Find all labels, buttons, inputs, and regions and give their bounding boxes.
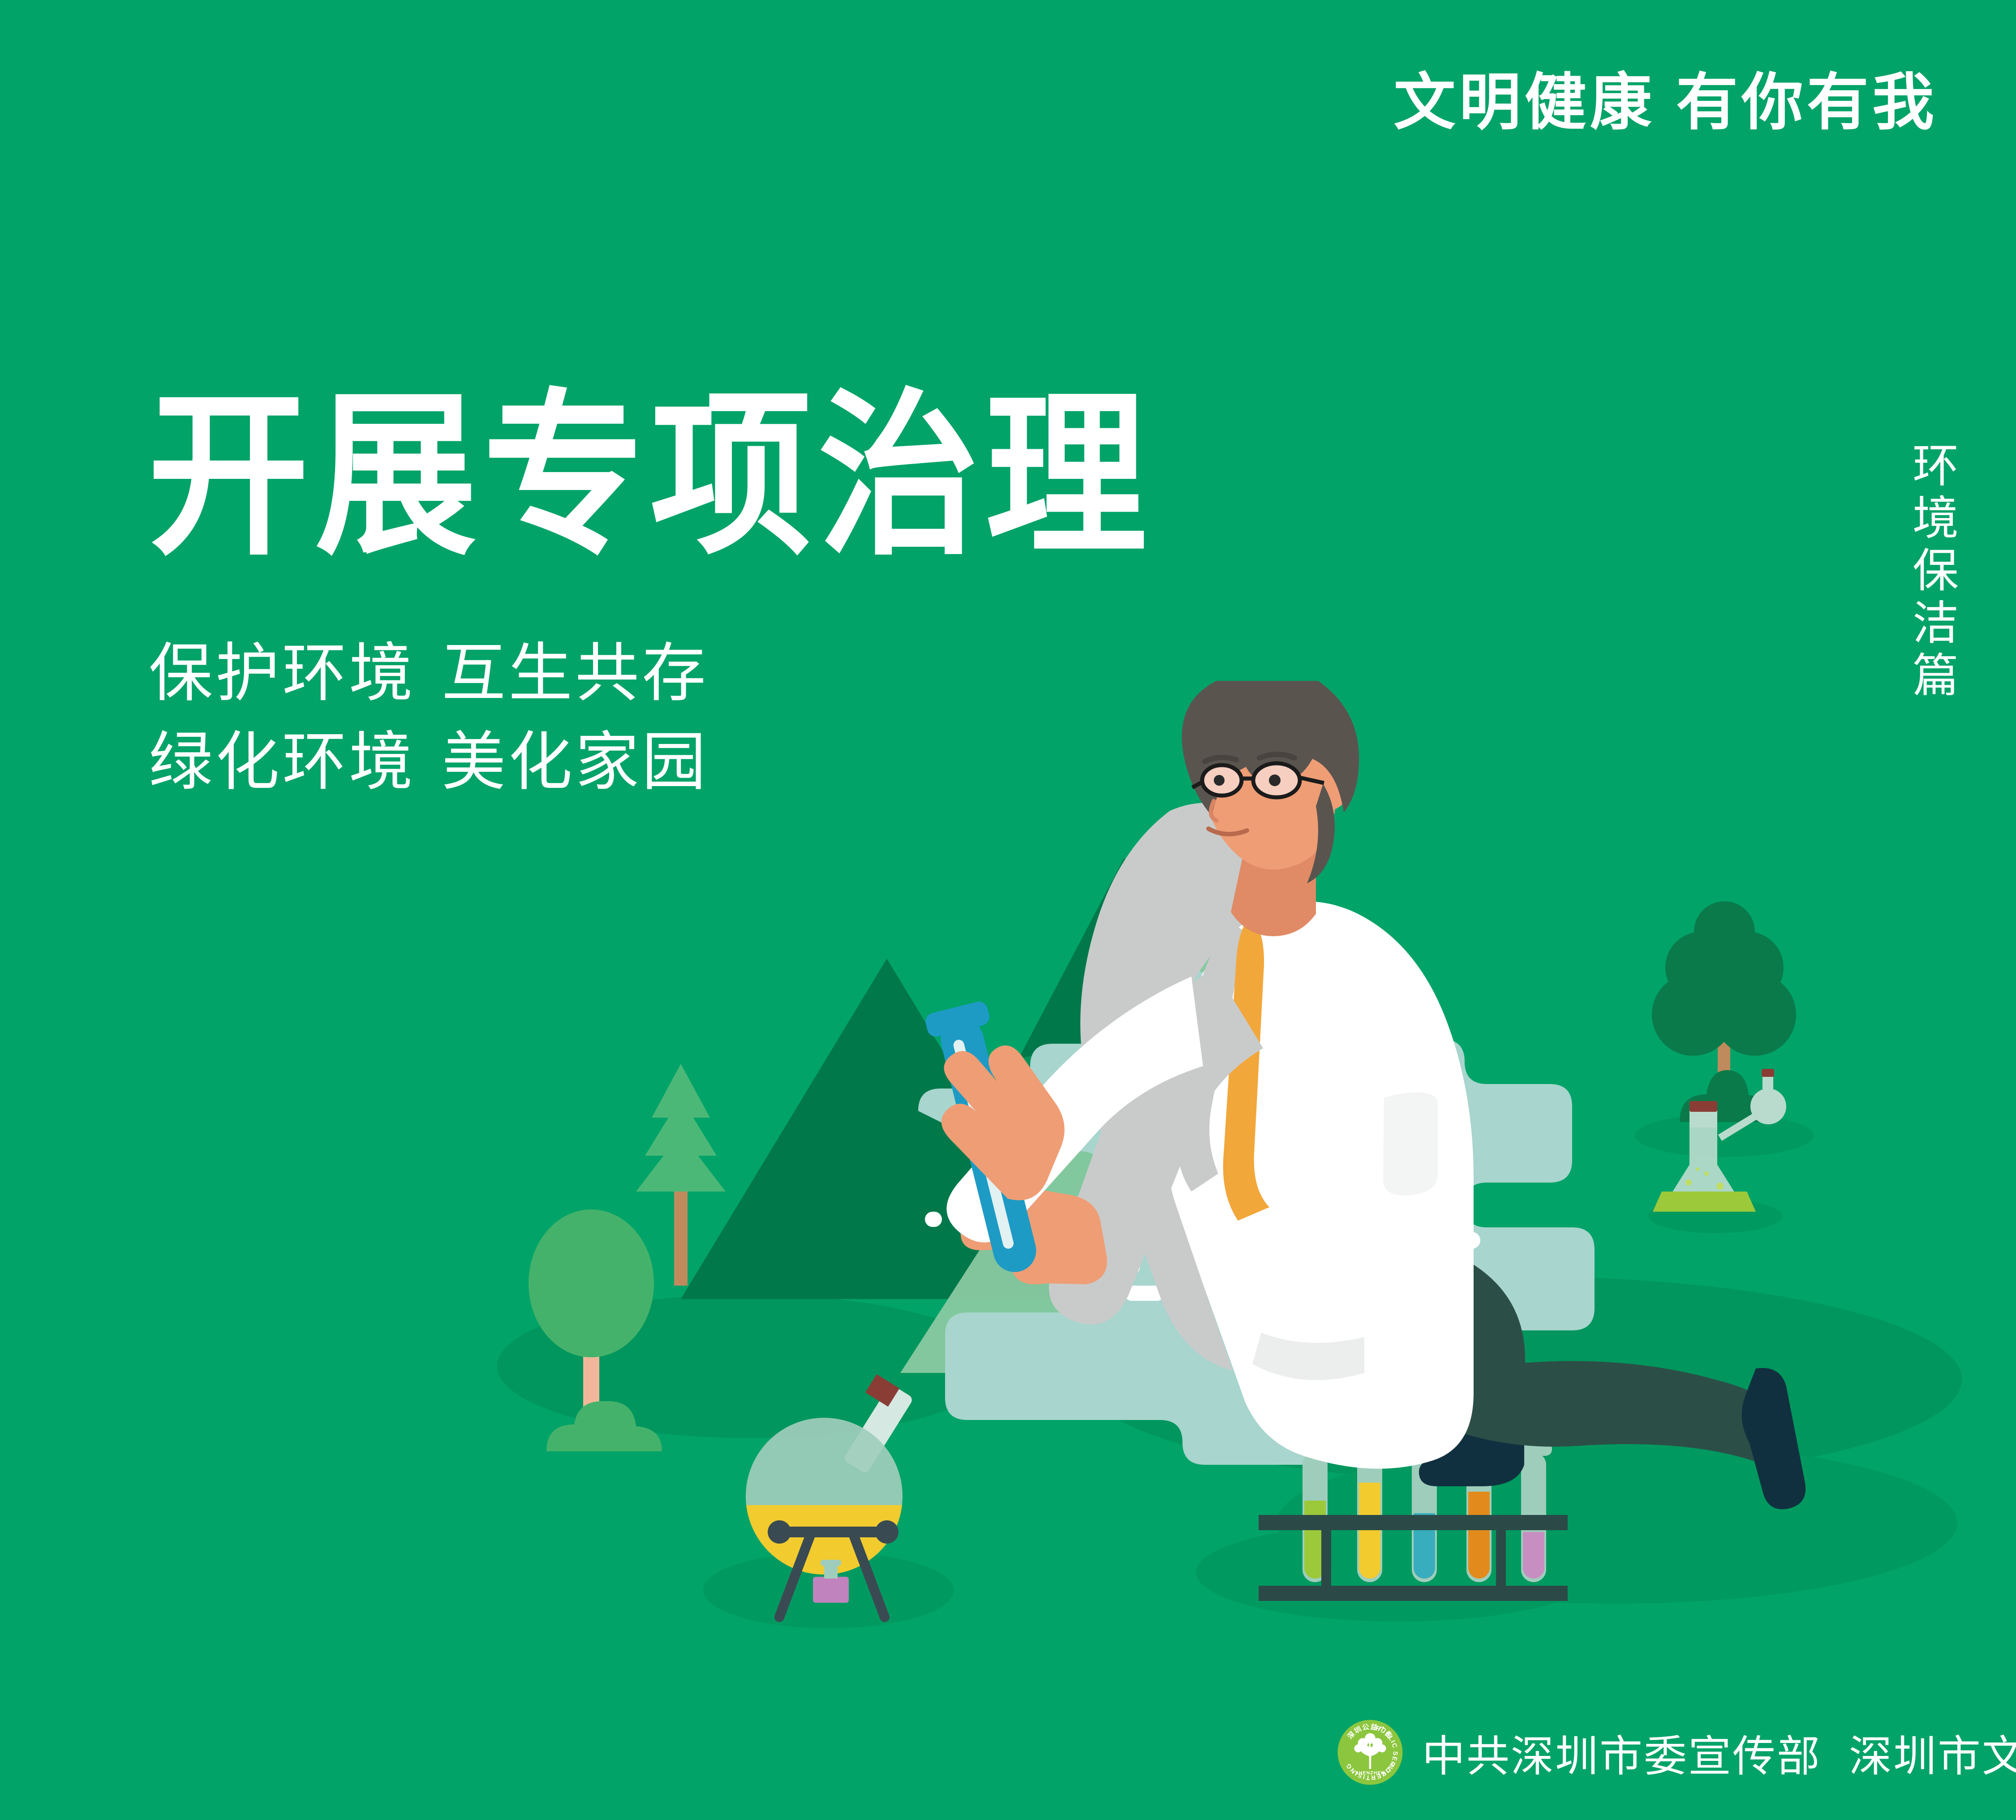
rack-post-left xyxy=(1321,1515,1331,1601)
erlenmeyer-bulb-neck xyxy=(1762,1074,1773,1097)
tripod-knob-right xyxy=(875,1520,898,1544)
eye-left xyxy=(1214,775,1225,786)
cloud-tree xyxy=(1635,901,1814,1157)
footer-org-2: 深圳市文明办 xyxy=(1849,1733,2016,1781)
cloud-tree-puff-top xyxy=(1694,901,1755,962)
page-title: 开展专项治理 xyxy=(148,381,1153,572)
footer: 深圳公益广告 ADVERTISING PUBLIC SERVICE xyxy=(1337,1719,2016,1786)
rack-lower-bar xyxy=(1259,1586,1568,1601)
tripod-knob-left xyxy=(768,1520,791,1544)
burner-body xyxy=(813,1577,849,1603)
top-slogan: 文明健康 有你有我 xyxy=(1394,72,1938,133)
footer-organizations: 中共深圳市委宣传部深圳市文明办 xyxy=(1422,1721,2016,1784)
burner-neck xyxy=(824,1564,838,1579)
shenzhen-public-service-advertising-logo: 深圳公益广告 ADVERTISING PUBLIC SERVICE xyxy=(1337,1719,1403,1786)
erlenmeyer-bulb-stopper xyxy=(1762,1069,1774,1077)
poster-canvas: 文明健康 有你有我 环境保洁篇 开展专项治理 保护环境互生共存 绿化环境美化家园 xyxy=(0,0,2016,1820)
round-tree-canopy xyxy=(529,1209,654,1357)
rack-upper-bar xyxy=(1259,1515,1568,1530)
footer-org-1: 中共深圳市委宣传部 xyxy=(1422,1733,1821,1781)
coat-pocket xyxy=(1383,1092,1438,1196)
tripod-bar xyxy=(777,1527,889,1537)
erlenmeyer-liquid-body xyxy=(1653,1192,1756,1212)
eye-right xyxy=(1269,774,1281,786)
water-ripple-5 xyxy=(925,1212,942,1227)
pine-tier-top xyxy=(652,1064,710,1118)
rack-post-right xyxy=(1496,1515,1506,1601)
subtitle-line-2-left: 绿化环境 xyxy=(149,727,416,798)
svg-text:SHENZHEN: SHENZHEN xyxy=(1355,1771,1385,1776)
subtitle-line-1-left: 保护环境 xyxy=(149,638,416,709)
illustration-scientist-water-test xyxy=(470,681,2002,1707)
vertical-section-tag: 环境保洁篇 xyxy=(1904,441,1959,703)
pine-trunk xyxy=(674,1180,688,1286)
burner-cap xyxy=(821,1560,841,1566)
erlenmeyer-stopper xyxy=(1689,1101,1717,1112)
